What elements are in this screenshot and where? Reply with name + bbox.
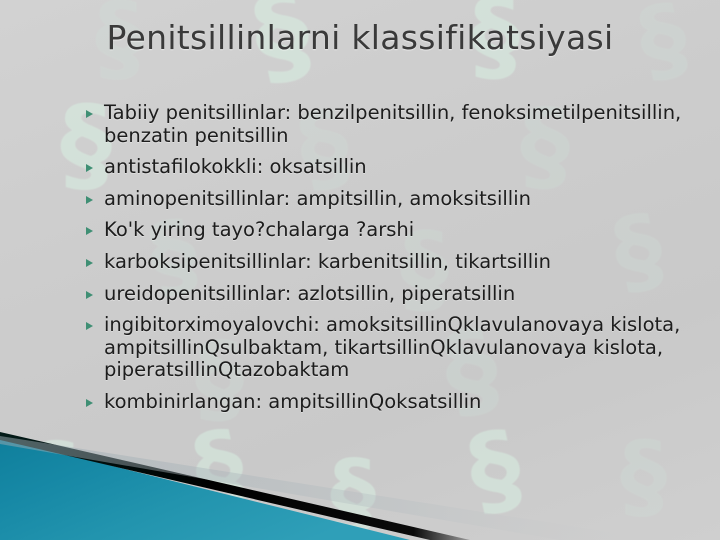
bullet-text: aminopenitsillinlar: ampitsillin, amoksi…: [104, 188, 696, 211]
decoration-svg: [0, 430, 720, 540]
slide-title: Penitsillinlarni klassifikatsiyasi: [107, 18, 614, 57]
bullet-text: kombinirlangan: ampitsillinQoksatsillin: [104, 391, 696, 414]
bullet-text: antistafilokokkli: oksatsillin: [104, 156, 696, 179]
triangle-bullet-icon: [84, 251, 104, 267]
triangle-bullet-icon: [84, 391, 104, 407]
bullet-item: ureidopenitsillinlar: azlotsillin, piper…: [84, 283, 696, 306]
presentation-slide: §§§§§§§§§§§§§§§§§: [0, 0, 720, 540]
triangle-glyph: [86, 227, 93, 235]
triangle-bullet-icon: [84, 219, 104, 235]
triangle-bullet-icon: [84, 283, 104, 299]
triangle-glyph: [86, 259, 93, 267]
triangle-glyph: [86, 110, 93, 118]
bullet-text: ureidopenitsillinlar: azlotsillin, piper…: [104, 283, 696, 306]
bullet-item: kombinirlangan: ampitsillinQoksatsillin: [84, 391, 696, 414]
bullet-text: karboksipenitsillinlar: karbenitsillin, …: [104, 251, 696, 274]
slide-title-container: Penitsillinlarni klassifikatsiyasi: [0, 18, 720, 57]
bullet-item: aminopenitsillinlar: ampitsillin, amoksi…: [84, 188, 696, 211]
triangle-glyph: [86, 322, 93, 330]
bottom-left-decoration: [0, 430, 720, 540]
triangle-bullet-icon: [84, 156, 104, 172]
triangle-bullet-icon: [84, 314, 104, 330]
triangle-glyph: [86, 291, 93, 299]
bullet-text: Ko'k yiring tayo?chalarga ?arshi: [104, 219, 696, 242]
bullet-list: Tabiiy penitsillinlar: benzilpenitsillin…: [84, 102, 696, 423]
bullet-text: ingibitorximoyalovchi: amoksitsillinQkla…: [104, 314, 696, 382]
bullet-item: karboksipenitsillinlar: karbenitsillin, …: [84, 251, 696, 274]
triangle-glyph: [86, 399, 93, 407]
bullet-item: antistafilokokkli: oksatsillin: [84, 156, 696, 179]
bullet-text: Tabiiy penitsillinlar: benzilpenitsillin…: [104, 102, 696, 147]
bullet-item: ingibitorximoyalovchi: amoksitsillinQkla…: [84, 314, 696, 382]
bullet-item: Tabiiy penitsillinlar: benzilpenitsillin…: [84, 102, 696, 147]
bullet-item: Ko'k yiring tayo?chalarga ?arshi: [84, 219, 696, 242]
triangle-bullet-icon: [84, 188, 104, 204]
triangle-bullet-icon: [84, 102, 104, 118]
triangle-glyph: [86, 196, 93, 204]
triangle-glyph: [86, 164, 93, 172]
